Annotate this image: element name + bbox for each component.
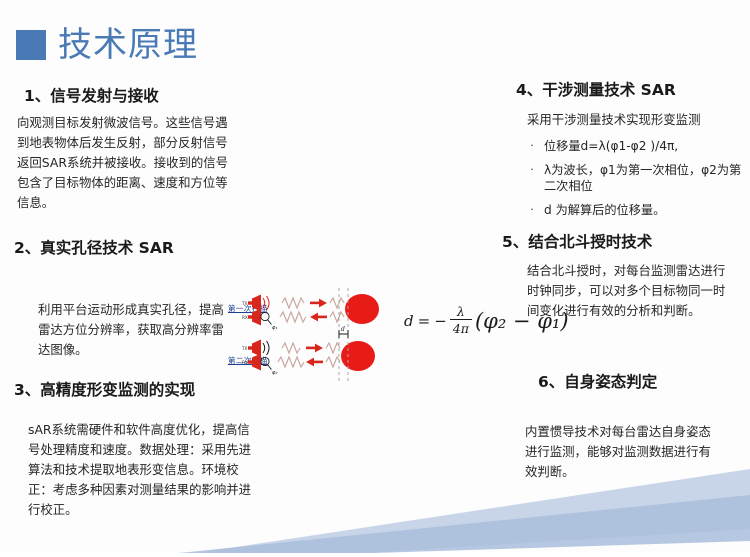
rx-antenna-icon-2: [248, 354, 261, 371]
emission-arcs-1: [263, 296, 269, 310]
formula-equals: =: [418, 312, 431, 330]
outgoing-wave-2: [282, 343, 300, 353]
title-label: 技术原理: [58, 28, 198, 62]
arrow-right-1: [310, 299, 327, 308]
outgoing-wave-1b: [330, 298, 344, 308]
return-wave-2b: [326, 357, 340, 367]
return-wave-2: [278, 357, 304, 367]
section-heading-4: 4、干涉测量技术 SAR: [516, 78, 676, 100]
phase-label-2: φ₂: [272, 370, 278, 376]
bullet-text: d 为解算后的位移量。: [544, 202, 746, 219]
section-heading-3: 3、高精度形变监测的实现: [14, 378, 195, 400]
section-heading-2: 2、真实孔径技术 SAR: [14, 236, 174, 258]
magnifier-icon-2: [261, 357, 272, 369]
list-item: · d 为解算后的位移量。: [520, 202, 746, 219]
tx-antenna-icon-1: [248, 295, 261, 312]
bullet-marker-icon: ·: [520, 202, 544, 219]
tx-antenna-icon-2: [248, 340, 261, 357]
displacement-label: d: [341, 326, 345, 333]
bullet-marker-icon: ·: [520, 138, 544, 155]
bullet-text: λ为波长，φ1为第一次相位，φ2为第二次相位: [544, 162, 746, 195]
section-body-3: sAR系统需硬件和软件高度优化，提高信号处理精度和速度。数据处理：采用先进算法和…: [28, 420, 262, 520]
slide-canvas: 技术原理 1、信号发射与接收 向观测目标发射微波信号。这些信号遇到地表物体后发生…: [0, 0, 750, 557]
target-ellipse-1: [345, 294, 379, 324]
tx-label-2: TX: [241, 346, 248, 351]
formula-group: (φ₂ − φ₁): [475, 309, 569, 333]
target-ellipse-2: [341, 341, 375, 371]
magnifier-icon-1: [261, 312, 272, 324]
bullet-list-4: · 位移量d=λ(φ1-φ2 )/4π, · λ为波长，φ1为第一次相位，φ2为…: [520, 138, 746, 225]
formula-fraction: λ 4π: [450, 306, 472, 335]
title-square-marker: [16, 30, 46, 60]
list-item: · λ为波长，φ1为第一次相位，φ2为第二次相位: [520, 162, 746, 195]
phase-label-1: φ₁: [272, 325, 278, 331]
formula-sign: −: [434, 312, 447, 330]
section-heading-1: 1、信号发射与接收: [24, 84, 159, 106]
outgoing-wave-1: [282, 298, 304, 308]
bullet-marker-icon: ·: [520, 162, 544, 195]
formula-lhs: d: [404, 312, 414, 330]
return-wave-1b: [330, 312, 344, 322]
tx-label-1: TX: [241, 301, 248, 306]
outgoing-wave-2b: [326, 343, 340, 353]
return-wave-1: [280, 312, 306, 322]
list-item: · 位移量d=λ(φ1-φ2 )/4π,: [520, 138, 746, 155]
section-body-1: 向观测目标发射微波信号。这些信号遇到地表物体后发生反射，部分反射信号返回SAR系…: [17, 113, 235, 213]
rx-label-2: RX: [242, 360, 248, 365]
page-title: 技术原理: [16, 28, 198, 62]
section-body-4: 采用干涉测量技术实现形变监测: [527, 110, 739, 130]
arrow-left-1: [310, 313, 327, 322]
section-body-6: 内置惯导技术对每台雷达自身姿态进行监测，能够对监测数据进行有效判断。: [525, 422, 715, 482]
rx-label-1: RX: [242, 315, 248, 320]
formula-numerator: λ: [454, 306, 468, 318]
section-body-2: 利用平台运动形成真实孔径，提高雷达方位分辨率，获取高分辨率雷达图像。: [38, 300, 234, 360]
bullet-text: 位移量d=λ(φ1-φ2 )/4π,: [544, 138, 746, 155]
interferometry-formula: d = − λ 4π (φ₂ − φ₁): [404, 306, 569, 335]
section-heading-6: 6、自身姿态判定: [538, 370, 657, 392]
formula-denominator: 4π: [450, 322, 472, 335]
arrow-left-2: [306, 358, 323, 367]
rx-antenna-icon-1: [248, 309, 261, 326]
section-heading-5: 5、结合北斗授时技术: [502, 230, 652, 252]
interferometry-diagram: TX RX φ₁: [220, 286, 510, 386]
arrow-right-2: [306, 344, 323, 353]
emission-arcs-2: [263, 341, 269, 355]
